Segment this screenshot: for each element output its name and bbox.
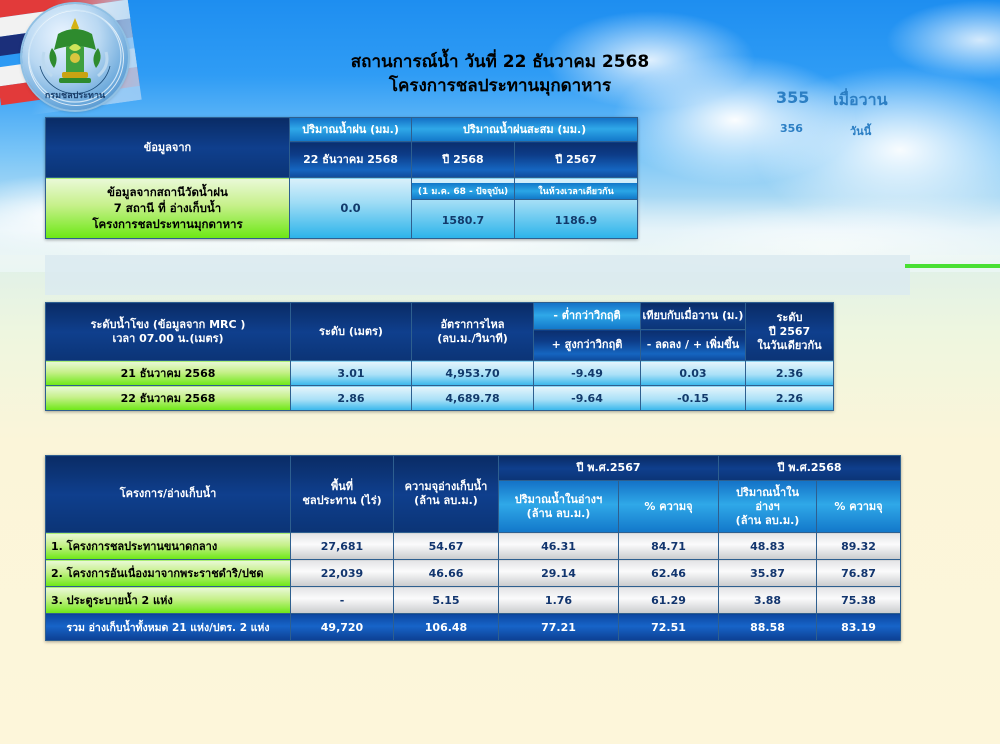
prev-line1: ระดับ: [746, 311, 833, 325]
header-pct-2568: % ความจุ: [817, 481, 901, 533]
table-row: 2. โครงการอันเนื่องมาจากพระราชดำริ/ปชด 2…: [46, 560, 901, 587]
cell-flow: 4,953.70: [412, 361, 534, 386]
cell-flow: 4,689.78: [412, 386, 534, 411]
header-critical-top: - ต่ำกว่าวิกฤติ: [534, 303, 641, 330]
header-vol-2568: ปริมาณน้ำใน อ่างฯ (ล้าน ลบ.ม.): [719, 481, 817, 533]
vol68-line1: ปริมาณน้ำใน: [719, 486, 816, 500]
subcap-2568: (1 ม.ค. 68 - ปัจจุบัน): [412, 183, 514, 200]
cell-project-name: 3. ประตูระบายน้ำ 2 แห่ง: [46, 587, 291, 614]
area-line1: พื้นที่: [291, 480, 393, 494]
cell-pct-2568: 76.87: [817, 560, 901, 587]
cell-total-vol-2568: 88.58: [719, 614, 817, 641]
source-line-2: 7 สถานี ที่ อ่างเก็บน้ำ: [46, 200, 289, 216]
cell-total-label: รวม อ่างเก็บน้ำทั้งหมด 21 แห่ง/ปตร. 2 แห…: [46, 614, 291, 641]
cell-vol-2567: 46.31: [499, 533, 619, 560]
header-level: ระดับ (เมตร): [291, 303, 412, 361]
cap-line2: (ล้าน ลบ.ม.): [394, 494, 498, 508]
counter-yesterday-value: 355: [776, 88, 809, 107]
source-line-3: โครงการชลประทานมุกดาหาร: [46, 216, 289, 232]
reservoir-table: โครงการ/อ่างเก็บน้ำ พื้นที่ ชลประทาน (ไร…: [45, 455, 901, 641]
cell-capacity: 5.15: [394, 587, 499, 614]
counter-yesterday-label: เมื่อวาน: [833, 88, 888, 113]
table-row: 3. ประตูระบายน้ำ 2 แห่ง - 5.15 1.76 61.2…: [46, 587, 901, 614]
source-line-1: ข้อมูลจากสถานีวัดน้ำฝน: [46, 184, 289, 200]
vol68-line2: อ่างฯ: [719, 500, 816, 514]
cell-total-pct-2567: 72.51: [619, 614, 719, 641]
cell-vol-2568: 3.88: [719, 587, 817, 614]
cell-total-area: 49,720: [291, 614, 394, 641]
header-vol-2567: ปริมาณน้ำในอ่างฯ (ล้าน ลบ.ม.): [499, 481, 619, 533]
cell-pct-2568: 75.38: [817, 587, 901, 614]
header-project: โครงการ/อ่างเก็บน้ำ: [46, 456, 291, 533]
cell-date: 22 ธันวาคม 2568: [46, 386, 291, 411]
divider-panel: [45, 255, 910, 295]
cell-vol-2568: 35.87: [719, 560, 817, 587]
header-flow: อัตราการไหล (ลบ.ม./วินาที): [412, 303, 534, 361]
header-compare-bottom: - ลดลง / + เพิ่มขึ้น: [641, 330, 746, 361]
cell-capacity: 46.66: [394, 560, 499, 587]
vol67-line1: ปริมาณน้ำในอ่างฯ: [499, 493, 618, 507]
header-year-2567: ปี 2567: [515, 142, 638, 178]
table-row: ระดับน้ำโขง (ข้อมูลจาก MRC ) เวลา 07.00 …: [46, 303, 834, 330]
cell-accum-2568: (1 ม.ค. 68 - ปัจจุบัน) 1580.7: [412, 178, 515, 239]
mekong-table: ระดับน้ำโขง (ข้อมูลจาก MRC ) เวลา 07.00 …: [45, 302, 834, 411]
area-line2: ชลประทาน (ไร่): [291, 494, 393, 508]
header-group-2567: ปี พ.ศ.2567: [499, 456, 719, 481]
cell-level: 2.86: [291, 386, 412, 411]
cell-rain-today: 0.0: [290, 178, 412, 239]
cell-total-vol-2567: 77.21: [499, 614, 619, 641]
cell-area: 27,681: [291, 533, 394, 560]
mekong-dt-line1: ระดับน้ำโขง (ข้อมูลจาก MRC ): [46, 318, 290, 332]
header-source: ข้อมูลจาก: [46, 118, 290, 178]
cell-prev-level: 2.26: [746, 386, 834, 411]
subcap-2567: ในห้วงเวลาเดียวกัน: [515, 183, 637, 200]
cell-area: 22,039: [291, 560, 394, 587]
table-row: 22 ธันวาคม 2568 2.86 4,689.78 -9.64 -0.1…: [46, 386, 834, 411]
cell-total-capacity: 106.48: [394, 614, 499, 641]
value-accum-2567: 1186.9: [515, 200, 637, 233]
rainfall-table: ข้อมูลจาก ปริมาณน้ำฝน (มม.) ปริมาณน้ำฝนส…: [45, 117, 638, 239]
cell-prev-level: 2.36: [746, 361, 834, 386]
flow-line2: (ลบ.ม./วินาที): [412, 332, 533, 346]
cell-level: 3.01: [291, 361, 412, 386]
header-area: พื้นที่ ชลประทาน (ไร่): [291, 456, 394, 533]
header-group-2568: ปี พ.ศ.2568: [719, 456, 901, 481]
cell-total-pct-2568: 83.19: [817, 614, 901, 641]
cell-project-name: 1. โครงการชลประทานขนาดกลาง: [46, 533, 291, 560]
table-row: 21 ธันวาคม 2568 3.01 4,953.70 -9.49 0.03…: [46, 361, 834, 386]
cell-critical: -9.64: [534, 386, 641, 411]
header-pct-2567: % ความจุ: [619, 481, 719, 533]
cell-compare: -0.15: [641, 386, 746, 411]
cell-compare: 0.03: [641, 361, 746, 386]
cell-pct-2567: 84.71: [619, 533, 719, 560]
table-row: โครงการ/อ่างเก็บน้ำ พื้นที่ ชลประทาน (ไร…: [46, 456, 901, 481]
counter-today-label: วันนี้: [850, 122, 871, 140]
cell-project-name: 2. โครงการอันเนื่องมาจากพระราชดำริ/ปชด: [46, 560, 291, 587]
cell-source-name: ข้อมูลจากสถานีวัดน้ำฝน 7 สถานี ที่ อ่างเ…: [46, 178, 290, 239]
cell-area: -: [291, 587, 394, 614]
cell-pct-2567: 61.29: [619, 587, 719, 614]
cell-vol-2567: 29.14: [499, 560, 619, 587]
cell-capacity: 54.67: [394, 533, 499, 560]
green-rule: [905, 264, 1000, 268]
header-critical-bottom: + สูงกว่าวิกฤติ: [534, 330, 641, 361]
flow-line1: อัตราการไหล: [412, 318, 533, 332]
cap-line1: ความจุอ่างเก็บน้ำ: [394, 480, 498, 494]
title-line-1: สถานการณ์น้ำ วันที่ 22 ธันวาคม 2568: [0, 50, 1000, 74]
header-rain-date: 22 ธันวาคม 2568: [290, 142, 412, 178]
cell-vol-2568: 48.83: [719, 533, 817, 560]
header-year-2568: ปี 2568: [412, 142, 515, 178]
header-mekong-datetime: ระดับน้ำโขง (ข้อมูลจาก MRC ) เวลา 07.00 …: [46, 303, 291, 361]
table-row: ข้อมูลจาก ปริมาณน้ำฝน (มม.) ปริมาณน้ำฝนส…: [46, 118, 638, 142]
cell-vol-2567: 1.76: [499, 587, 619, 614]
cell-date: 21 ธันวาคม 2568: [46, 361, 291, 386]
table-row: ข้อมูลจากสถานีวัดน้ำฝน 7 สถานี ที่ อ่างเ…: [46, 178, 638, 239]
header-capacity: ความจุอ่างเก็บน้ำ (ล้าน ลบ.ม.): [394, 456, 499, 533]
mekong-dt-line2: เวลา 07.00 น.(เมตร): [46, 332, 290, 346]
header-rain-group: ปริมาณน้ำฝน (มม.): [290, 118, 412, 142]
cell-critical: -9.49: [534, 361, 641, 386]
value-accum-2568: 1580.7: [412, 200, 514, 233]
table-row-total: รวม อ่างเก็บน้ำทั้งหมด 21 แห่ง/ปตร. 2 แห…: [46, 614, 901, 641]
prev-line3: ในวันเดียวกัน: [746, 339, 833, 353]
cell-pct-2568: 89.32: [817, 533, 901, 560]
vol68-line3: (ล้าน ลบ.ม.): [719, 514, 816, 528]
table-row: 1. โครงการชลประทานขนาดกลาง 27,681 54.67 …: [46, 533, 901, 560]
header-prev-year: ระดับ ปี 2567 ในวันเดียวกัน: [746, 303, 834, 361]
vol67-line2: (ล้าน ลบ.ม.): [499, 507, 618, 521]
cell-pct-2567: 62.46: [619, 560, 719, 587]
cell-accum-2567: ในห้วงเวลาเดียวกัน 1186.9: [515, 178, 638, 239]
prev-line2: ปี 2567: [746, 325, 833, 339]
header-compare-top: เทียบกับเมื่อวาน (ม.): [641, 303, 746, 330]
header-accum-group: ปริมาณน้ำฝนสะสม (มม.): [412, 118, 638, 142]
counter-today-value: 356: [780, 122, 803, 135]
